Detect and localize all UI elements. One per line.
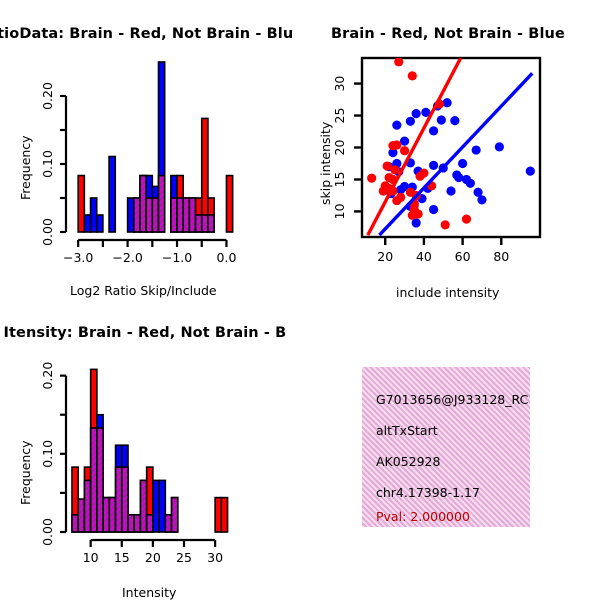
y-axis-tick-label: 0.20 [40, 362, 55, 390]
plot-frame [362, 58, 540, 237]
x-axis-tick-label: −3.0 [63, 250, 93, 265]
histogram-bar-overlap [140, 176, 146, 232]
scatter-point [429, 161, 438, 170]
scatter-point [392, 140, 401, 149]
histogram-bar [159, 480, 165, 532]
histogram-bar-overlap [189, 198, 195, 232]
histogram-bar-overlap [134, 515, 140, 532]
scatter-point [526, 167, 535, 176]
histogram-bar [226, 176, 232, 232]
annotation-line-locus: chr4.17398-1.17 [376, 485, 480, 500]
x-axis-tick-label: 25 [176, 550, 192, 565]
y-axis-tick-label: 25 [332, 108, 347, 124]
x-axis-tick-label: 40 [416, 249, 432, 264]
histogram-bar-overlap [128, 515, 134, 532]
x-axis-tick-label: 60 [455, 249, 471, 264]
plot-area-gene-intensity-histogram: 0.000.100.201015202530 [0, 300, 300, 600]
x-axis-tick-label: −1.0 [162, 250, 192, 265]
histogram-bar [109, 157, 115, 232]
scatter-point [429, 205, 438, 214]
panel-ratio-histogram: RatioData: Brain - Red, Not Brain - Blu … [0, 0, 300, 300]
scatter-point [414, 209, 423, 218]
scatter-point [446, 186, 455, 195]
scatter-point [458, 159, 467, 168]
histogram-bar [84, 215, 90, 232]
histogram-bar-overlap [159, 176, 165, 232]
scatter-point [367, 174, 376, 183]
scatter-point [394, 57, 403, 66]
x-axis-tick-label: 30 [207, 550, 223, 565]
plot-content [367, 57, 535, 235]
panel-annotation-box: G7013656@J933128_RC altTxStart AK052928 … [362, 367, 530, 527]
histogram-bar-overlap [116, 467, 122, 532]
histogram-bar-overlap [147, 515, 153, 532]
x-axis-tick-label: 20 [145, 550, 161, 565]
x-axis-tick-label: 80 [493, 249, 509, 264]
y-axis-tick-label: 0.10 [40, 440, 55, 468]
scatter-point [419, 168, 428, 177]
scatter-point [406, 117, 415, 126]
y-axis-tick-label: 10 [332, 203, 347, 219]
panel-intensity-scatter: Brain - Red, Not Brain - Blue skip inten… [300, 0, 600, 300]
histogram-bar-overlap [140, 480, 146, 532]
histogram-bar-overlap [103, 498, 109, 532]
scatter-point [441, 220, 450, 229]
y-axis-tick-label: 0.00 [40, 218, 55, 246]
x-axis-tick-label: 10 [83, 550, 99, 565]
histogram-bar-overlap [146, 198, 152, 232]
scatter-point [462, 215, 471, 224]
histogram-bar-overlap [109, 498, 115, 532]
plot-area-intensity-scatter: 101520253020406080 [300, 0, 600, 300]
y-axis-tick-label: 15 [332, 172, 347, 188]
scatter-point [392, 121, 401, 130]
annotation-box-background [362, 367, 530, 527]
scatter-point [437, 115, 446, 124]
histogram-bar [91, 198, 97, 232]
x-axis-tick-label: −2.0 [112, 250, 142, 265]
scatter-point [383, 161, 392, 170]
histogram-bar-overlap [97, 428, 103, 532]
scatter-point [495, 142, 504, 151]
scatter-point [379, 186, 388, 195]
scatter-point [450, 116, 459, 125]
figure-canvas: RatioData: Brain - Red, Not Brain - Blu … [0, 0, 600, 600]
y-axis-tick-label: 0.00 [40, 518, 55, 546]
histogram-bar [215, 498, 221, 532]
histogram-bar-overlap [122, 467, 128, 532]
histogram-bar-overlap [171, 198, 177, 232]
histogram-bar-overlap [72, 515, 78, 532]
histogram-bar-overlap [165, 515, 171, 532]
scatter-point [408, 71, 417, 80]
scatter-point [477, 195, 486, 204]
scatter-point [466, 179, 475, 188]
annotation-line-accession: AK052928 [376, 454, 440, 469]
y-axis-tick-label: 20 [332, 140, 347, 156]
scatter-point [454, 173, 463, 182]
scatter-point [443, 98, 452, 107]
annotation-line-probe-id: G7013656@J933128_RC [376, 392, 528, 407]
plot-area-ratio-histogram: 0.000.100.20−3.0−2.0−1.00.0 [0, 0, 300, 300]
histogram-bar [128, 198, 134, 232]
histogram-bar [153, 480, 159, 532]
scatter-point [472, 145, 481, 154]
histogram-bar-overlap [152, 198, 158, 232]
y-axis-tick-label: 0.10 [40, 150, 55, 178]
scatter-point [396, 193, 405, 202]
histogram-bar-overlap [196, 215, 202, 232]
annotation-line-pval: Pval: 2.000000 [376, 509, 470, 524]
histogram-bar-overlap [134, 198, 140, 232]
annotation-line-event-type: altTxStart [376, 423, 438, 438]
scatter-point [400, 146, 409, 155]
histogram-bar-overlap [91, 428, 97, 532]
y-axis-tick-label: 0.20 [40, 82, 55, 110]
histogram-bar-overlap [202, 215, 208, 232]
x-axis-tick-label: 0.0 [217, 250, 237, 265]
y-axis-tick-label: 30 [332, 76, 347, 92]
histogram-bar [221, 498, 227, 532]
histogram-bar-overlap [172, 498, 178, 532]
histogram-bar [78, 176, 84, 232]
x-axis-tick-label: 15 [114, 550, 130, 565]
histogram-bar-overlap [183, 198, 189, 232]
histogram-bar-overlap [208, 215, 214, 232]
histogram-bar-overlap [84, 480, 90, 532]
scatter-point [412, 109, 421, 118]
panel-gene-intensity-histogram: ne Itensity: Brain - Red, Not Brain - B … [0, 300, 300, 600]
histogram-bar-overlap [78, 499, 84, 532]
x-axis-tick-label: 20 [377, 249, 393, 264]
histogram-bar-overlap [177, 198, 183, 232]
histogram-bar [97, 215, 103, 232]
scatter-point [429, 126, 438, 135]
